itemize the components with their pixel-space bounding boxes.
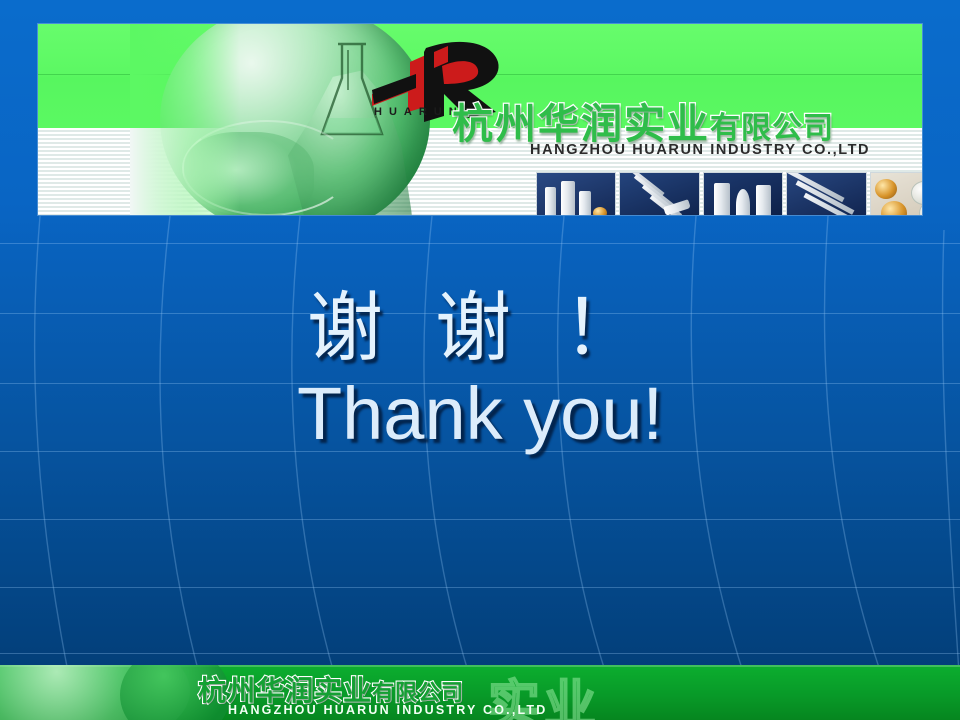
header-banner: HUARUN 杭州华润实业有限公司 HANGZHOU HUARUN INDUST… [38, 24, 922, 215]
banner-company-name-en: HANGZHOU HUARUN INDUSTRY CO.,LTD [530, 142, 870, 158]
product-thumbnail [870, 172, 922, 215]
slide-canvas: HUARUN 杭州华润实业有限公司 HANGZHOU HUARUN INDUST… [0, 0, 960, 720]
product-thumbnail [786, 172, 866, 215]
footer-company-name-en: HANGZHOU HUARUN INDUSTRY CO.,LTD [228, 703, 547, 717]
huarun-wordmark: HUARUN [374, 106, 464, 118]
product-thumbnail-strip [536, 172, 922, 215]
photo-fade-strip [130, 128, 240, 215]
thank-you-chinese: 谢 谢 ！ [0, 286, 960, 370]
product-thumbnail [703, 172, 783, 215]
product-thumbnail [619, 172, 699, 215]
thank-you-english: Thank you! [0, 374, 960, 454]
product-thumbnail [536, 172, 616, 215]
banner-company-name-cn: 杭州华润实业有限公司 [452, 90, 834, 150]
main-message: 谢 谢 ！ Thank you! [0, 286, 960, 454]
footer-band: 实业 杭州华润实业有限公司 HANGZHOU HUARUN INDUSTRY C… [0, 665, 960, 720]
